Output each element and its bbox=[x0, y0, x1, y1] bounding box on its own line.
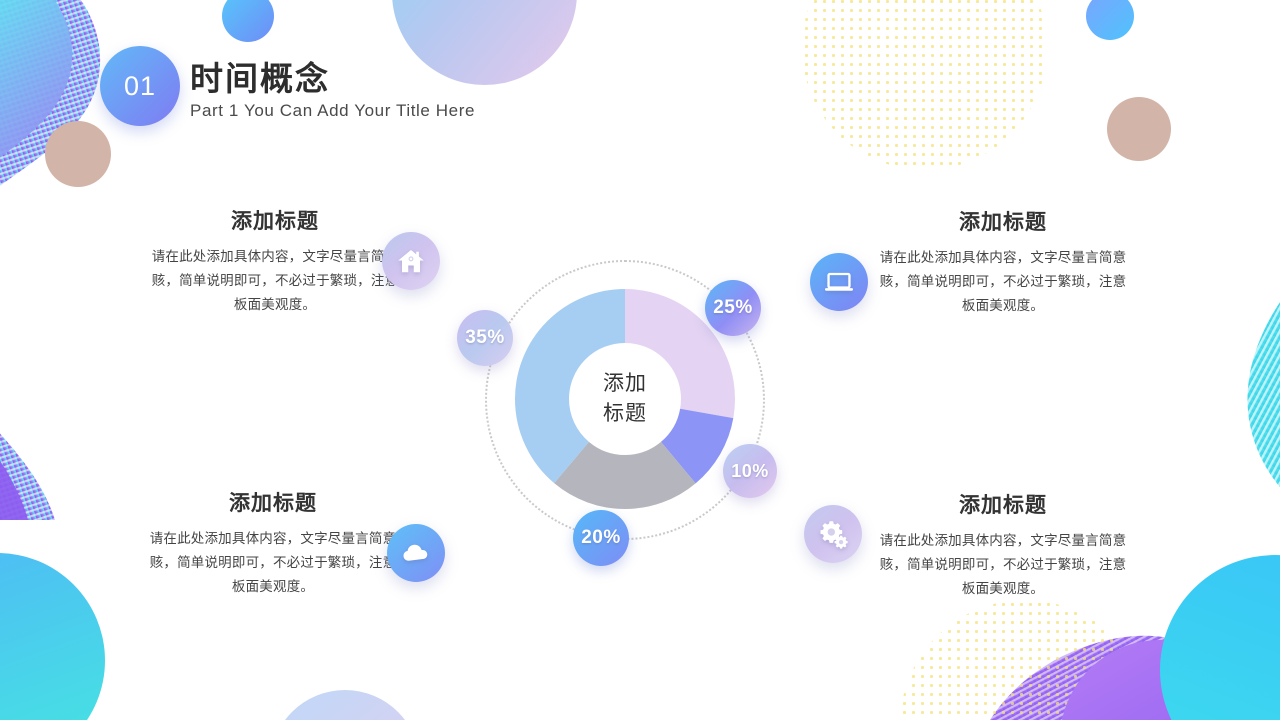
home-icon bbox=[396, 246, 426, 276]
decor-circle-gradient-top bbox=[392, 0, 577, 85]
feature-block-top-right: 添加标题 请在此处添加具体内容，文字尽量言简意赅，简单说明即可，不必过于繁琐，注… bbox=[878, 206, 1128, 318]
decor-circle-lavender-bottom bbox=[270, 690, 420, 720]
percent-badge-20[interactable]: 20% bbox=[573, 510, 629, 566]
gear-icon bbox=[817, 518, 849, 550]
feature-block-top-left: 添加标题 请在此处添加具体内容，文字尽量言简意赅，简单说明即可，不必过于繁琐，注… bbox=[150, 205, 400, 317]
decor-circle-blue-top-right bbox=[1086, 0, 1134, 40]
feature-title: 添加标题 bbox=[878, 489, 1128, 519]
page-subtitle: Part 1 You Can Add Your Title Here bbox=[190, 101, 475, 121]
donut-center-line-2: 标题 bbox=[603, 399, 647, 429]
slide-root: 01 时间概念 Part 1 You Can Add Your Title He… bbox=[0, 0, 1280, 720]
feature-block-bottom-left: 添加标题 请在此处添加具体内容，文字尽量言简意赅，简单说明即可，不必过于繁琐，注… bbox=[148, 487, 398, 599]
percent-badge-10[interactable]: 10% bbox=[723, 444, 777, 498]
gear-icon-bubble[interactable] bbox=[804, 505, 862, 563]
feature-title: 添加标题 bbox=[150, 205, 400, 235]
decor-circle-cyan-bottom-left bbox=[0, 553, 105, 720]
percent-badge-35[interactable]: 35% bbox=[457, 310, 513, 366]
wave-stripes-right bbox=[1140, 240, 1280, 570]
feature-block-bottom-right: 添加标题 请在此处添加具体内容，文字尽量言简意赅，简单说明即可，不必过于繁琐，注… bbox=[878, 489, 1128, 601]
decor-circle-blue-top bbox=[222, 0, 274, 42]
feature-body: 请在此处添加具体内容，文字尽量言简意赅，简单说明即可，不必过于繁琐，注意板面美观… bbox=[150, 245, 400, 317]
section-number-badge: 01 bbox=[100, 46, 180, 126]
cloud-icon-bubble[interactable] bbox=[387, 524, 445, 582]
donut-center-line-1: 添加 bbox=[603, 369, 647, 399]
percent-badge-25[interactable]: 25% bbox=[705, 280, 761, 336]
section-number: 01 bbox=[124, 71, 156, 102]
feature-title: 添加标题 bbox=[148, 487, 398, 517]
feature-body: 请在此处添加具体内容，文字尽量言简意赅，简单说明即可，不必过于繁琐，注意板面美观… bbox=[878, 246, 1128, 318]
feature-body: 请在此处添加具体内容，文字尽量言简意赅，简单说明即可，不必过于繁琐，注意板面美观… bbox=[878, 529, 1128, 601]
laptop-icon bbox=[823, 266, 855, 298]
decor-circle-tan-right bbox=[1107, 97, 1171, 161]
decor-circle-purple-bottom-right bbox=[1060, 640, 1260, 720]
halftone-circle-bottom-right bbox=[900, 600, 1150, 720]
halftone-circle-top-right bbox=[802, 0, 1047, 170]
feature-body: 请在此处添加具体内容，文字尽量言简意赅，简单说明即可，不必过于繁琐，注意板面美观… bbox=[148, 527, 398, 599]
home-icon-bubble[interactable] bbox=[382, 232, 440, 290]
decor-circle-cyan-bottom-right bbox=[1160, 555, 1280, 720]
cloud-icon bbox=[401, 538, 431, 568]
donut-center-label: 添加 标题 bbox=[515, 289, 735, 509]
feature-title: 添加标题 bbox=[878, 206, 1128, 236]
decor-circle-tan-left bbox=[45, 121, 111, 187]
page-title: 时间概念 bbox=[190, 52, 330, 100]
laptop-icon-bubble[interactable] bbox=[810, 253, 868, 311]
